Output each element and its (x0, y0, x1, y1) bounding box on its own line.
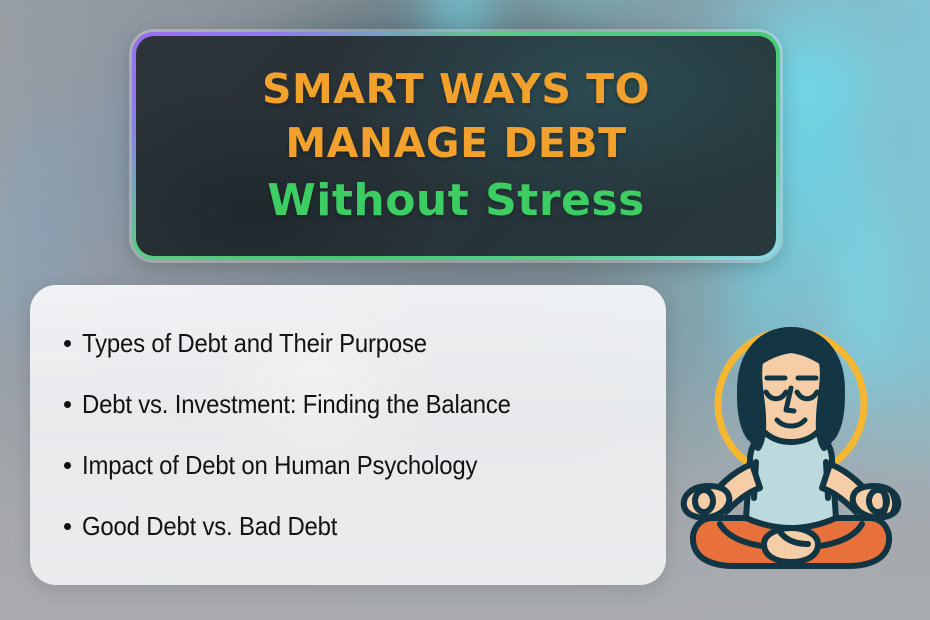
title-line-2: MANAGE DEBT (285, 116, 626, 170)
bullet-dot-icon (64, 340, 71, 347)
list-item: Types of Debt and Their Purpose (64, 328, 640, 359)
title-line-3: Without Stress (267, 172, 645, 230)
list-item-label: Types of Debt and Their Purpose (82, 328, 427, 359)
list-item: Impact of Debt on Human Psychology (64, 450, 640, 481)
hair-side-shape (819, 362, 837, 448)
bullet-dot-icon (64, 523, 71, 530)
bullet-dot-icon (64, 462, 71, 469)
title-line-1: SMART WAYS TO (262, 62, 650, 116)
title-card-inner: SMART WAYS TO MANAGE DEBT Without Stress (136, 36, 776, 256)
hair-side-shape (745, 362, 763, 448)
list-item-label: Good Debt vs. Bad Debt (82, 511, 337, 542)
meditating-person-illustration (668, 312, 914, 580)
title-card: SMART WAYS TO MANAGE DEBT Without Stress (132, 32, 780, 260)
list-item-label: Debt vs. Investment: Finding the Balance (82, 389, 511, 420)
bullet-list-panel: Types of Debt and Their Purpose Debt vs.… (30, 285, 666, 585)
list-item: Debt vs. Investment: Finding the Balance (64, 389, 640, 420)
list-item-label: Impact of Debt on Human Psychology (82, 450, 477, 481)
bullet-dot-icon (64, 401, 71, 408)
list-item: Good Debt vs. Bad Debt (64, 511, 640, 542)
